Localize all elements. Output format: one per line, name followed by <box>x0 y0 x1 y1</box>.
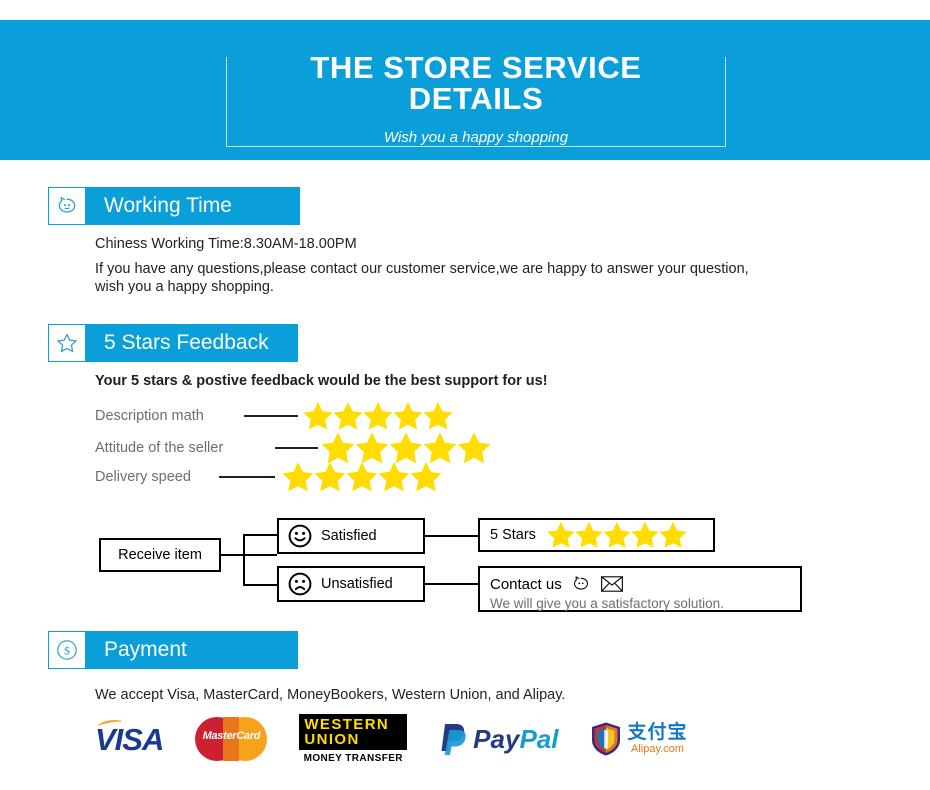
paypal-p-icon <box>439 722 469 756</box>
chat-bubble-icon <box>570 573 592 595</box>
rating-label: Delivery speed <box>95 469 215 485</box>
banner-decor-frame: THE STORE SERVICE DETAILS Wish you a hap… <box>226 57 726 147</box>
mastercard-logo: MasterCard <box>195 717 267 761</box>
star-icon <box>658 520 688 550</box>
mastercard-wordmark: MasterCard <box>195 730 267 742</box>
rating-stars <box>281 460 441 494</box>
flow-connector <box>221 554 277 556</box>
flow-connector <box>243 534 245 586</box>
working-time-line-2: If you have any questions,please contact… <box>95 261 749 277</box>
flow-connector <box>425 535 478 537</box>
rating-label: Attitude of the seller <box>95 440 271 456</box>
payment-description: We accept Visa, MasterCard, MoneyBookers… <box>95 687 565 703</box>
flow-box-unsatisfied: Unsatisfied <box>277 566 425 602</box>
star-icon <box>409 460 443 494</box>
star-icon <box>422 400 454 432</box>
rating-connector-line <box>219 476 275 478</box>
western-union-logo: WESTERN UNION MONEY TRANSFER <box>299 714 407 764</box>
frowny-face-icon <box>287 571 313 597</box>
star-icon <box>302 400 334 432</box>
alipay-shield-icon <box>590 721 622 757</box>
alipay-wordmark-en: Alipay.com <box>631 744 684 755</box>
western-union-box: WESTERN UNION <box>299 714 407 750</box>
flow-connector <box>243 534 279 536</box>
flow-box-contact-us: Contact us We will give you a satisfacto… <box>478 566 802 612</box>
star-icon <box>546 520 576 550</box>
header-banner: THE STORE SERVICE DETAILS Wish you a hap… <box>0 20 930 160</box>
star-icon <box>313 460 347 494</box>
flow-label-receive-item: Receive item <box>118 547 202 563</box>
star-icon <box>362 400 394 432</box>
star-icon <box>630 520 660 550</box>
chat-face-icon <box>48 187 86 225</box>
paypal-logo: Pay Pal <box>439 722 558 756</box>
star-outline-icon <box>48 324 86 362</box>
flow-box-receive-item: Receive item <box>99 538 221 572</box>
payment-logos-row: VISA MasterCard WESTERN UNION MONEY TRAN… <box>95 714 687 764</box>
visa-swoosh-icon <box>97 719 123 728</box>
section-header-feedback: 5 Stars Feedback <box>48 324 298 362</box>
star-icon <box>377 460 411 494</box>
svg-text:$: $ <box>64 643 70 657</box>
feedback-lead-text: Your 5 stars & postive feedback would be… <box>95 373 548 389</box>
envelope-icon <box>600 575 624 593</box>
paypal-wordmark-pal: Pal <box>519 726 558 752</box>
flow-label-five-stars: 5 Stars <box>490 527 536 543</box>
rating-label: Description math <box>95 408 240 424</box>
flow-connector <box>425 583 478 585</box>
rating-row: Description math <box>95 400 452 432</box>
contact-us-header: Contact us <box>490 573 790 595</box>
banner-title: THE STORE SERVICE DETAILS <box>227 52 725 114</box>
banner-subtitle: Wish you a happy shopping <box>227 130 725 145</box>
working-time-line-3: wish you a happy shopping. <box>95 279 274 295</box>
western-union-line-1: WESTERN <box>304 717 389 732</box>
working-time-line-1: Chiness Working Time:8.30AM-18.00PM <box>95 236 357 252</box>
section-title-feedback: 5 Stars Feedback <box>104 331 269 355</box>
contact-us-subtext: We will give you a satisfactory solution… <box>490 596 790 611</box>
section-header-working-time: Working Time <box>48 187 300 225</box>
star-icon <box>332 400 364 432</box>
contact-us-title: Contact us <box>490 576 562 593</box>
star-icon <box>345 460 379 494</box>
rating-stars <box>302 400 452 432</box>
flow-box-satisfied: Satisfied <box>277 518 425 554</box>
star-icon <box>602 520 632 550</box>
flow-box-five-stars: 5 Stars <box>478 518 715 552</box>
western-union-line-2: UNION <box>304 732 389 747</box>
flow-five-stars-icons <box>546 520 686 550</box>
smiley-face-icon <box>287 523 313 549</box>
alipay-wordmark-cn: 支付宝 <box>627 723 687 742</box>
rating-connector-line <box>244 415 298 417</box>
rating-connector-line <box>275 447 318 449</box>
section-title-payment: Payment <box>104 638 187 662</box>
star-icon <box>574 520 604 550</box>
dollar-circle-icon: $ <box>48 631 86 669</box>
flow-label-unsatisfied: Unsatisfied <box>321 576 393 592</box>
rating-row: Delivery speed <box>95 460 441 494</box>
star-icon <box>281 460 315 494</box>
western-union-subtitle: MONEY TRANSFER <box>304 753 403 764</box>
star-icon <box>456 430 492 466</box>
paypal-wordmark-pay: Pay <box>473 726 519 752</box>
flow-connector <box>243 584 279 586</box>
banner-subtitle-text: Wish you a happy shopping <box>370 130 582 145</box>
flow-label-satisfied: Satisfied <box>321 528 377 544</box>
banner-title-text: THE STORE SERVICE DETAILS <box>227 52 725 114</box>
visa-logo: VISA <box>95 724 163 755</box>
star-icon <box>392 400 424 432</box>
section-header-payment: $ Payment <box>48 631 298 669</box>
alipay-logo: 支付宝 Alipay.com <box>590 721 687 757</box>
section-title-working-time: Working Time <box>104 194 232 218</box>
